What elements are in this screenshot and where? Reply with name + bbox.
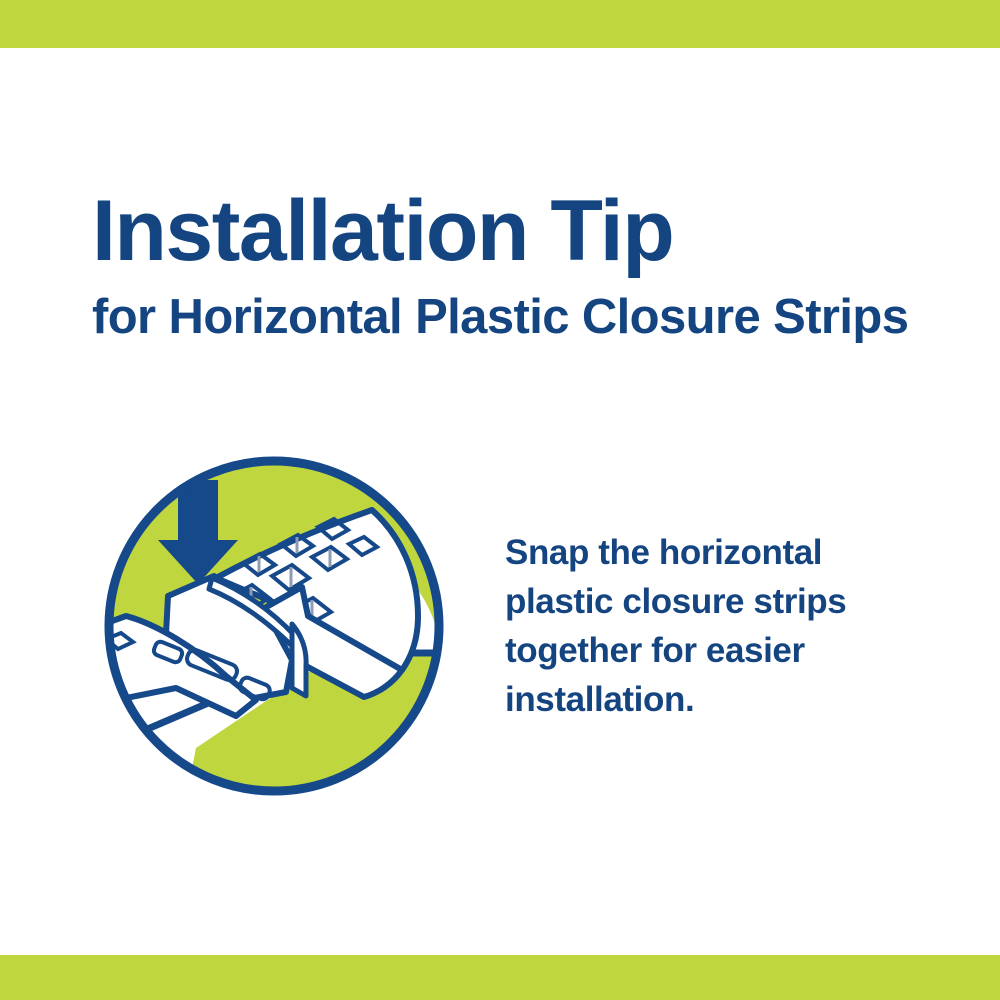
page-title: Installation Tip	[0, 183, 1000, 279]
bottom-green-band	[0, 955, 1000, 1000]
installation-illustration	[96, 448, 452, 804]
tip-body-text: Snap the horizontal plastic closure stri…	[505, 528, 925, 724]
page-subtitle: for Horizontal Plastic Closure Strips	[0, 279, 1000, 345]
page-root: Installation Tip for Horizontal Plastic …	[0, 0, 1000, 1000]
illustration-svg	[96, 448, 452, 804]
perforation	[96, 640, 105, 656]
heading-block: Installation Tip for Horizontal Plastic …	[0, 183, 1000, 345]
top-green-band	[0, 0, 1000, 48]
